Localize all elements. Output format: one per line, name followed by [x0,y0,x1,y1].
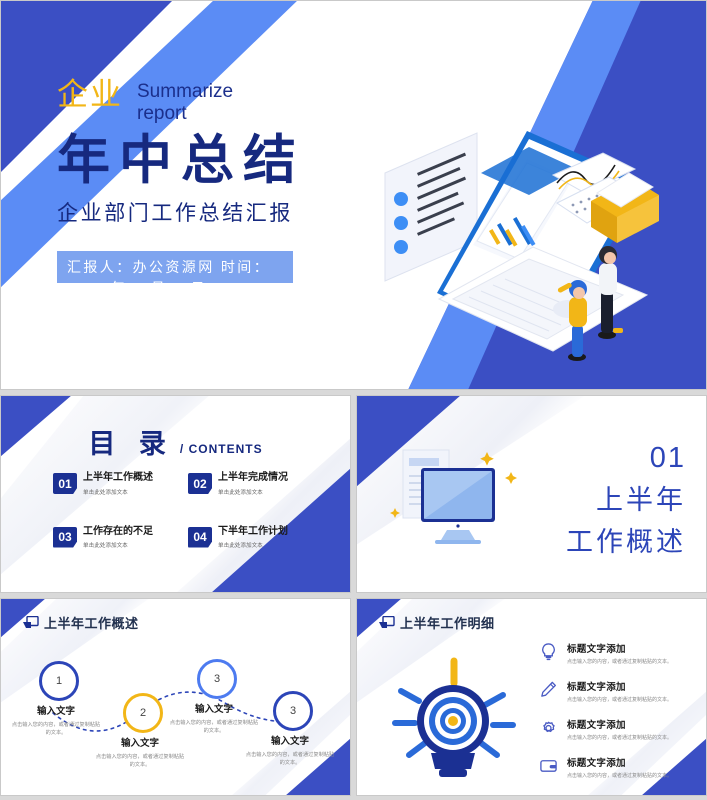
monitor-illustration [383,444,523,564]
brand-en: Summarize report [137,81,245,126]
wallet-icon [539,756,558,775]
detail-item[interactable]: 标题文字添加 点击输入您的内容，或者通过复制粘贴的文本。 [539,755,699,779]
timeline-node[interactable]: 3 [197,659,237,699]
laptop-illustration [377,113,667,383]
timeline-node-number: 2 [140,707,146,719]
slide-section-01[interactable]: 01 上半年 工作概述 [356,395,707,593]
page-header-title: 上半年工作概述 [44,613,139,632]
timeline-label-title: 输入文字 [94,735,186,749]
timeline-label-title: 输入文字 [168,701,260,715]
contents-heading-en: / CONTENTS [180,442,263,456]
detail-item-title: 标题文字添加 [567,755,672,769]
timeline-label-desc: 点击输入您的内容，或者通过复制粘贴的文本。 [10,721,102,737]
timeline-node[interactable]: 1 [39,661,79,701]
contents-item-number: 03 [53,527,77,548]
detail-item-title: 标题文字添加 [567,641,672,655]
timeline-label-desc: 点击输入您的内容，或者通过复制粘贴的文本。 [94,753,186,769]
timeline-label: 输入文字 点击输入您的内容，或者通过复制粘贴的文本。 [94,735,186,769]
page-header-title: 上半年工作明细 [400,613,495,632]
contents-item[interactable]: 03 工作存在的不足 单击此处添加文本 [53,526,174,550]
detail-item-desc: 点击输入您的内容，或者通过复制粘贴的文本。 [567,772,672,779]
timeline-label: 输入文字 点击输入您的内容，或者通过复制粘贴的文本。 [168,701,260,735]
slide-deck: 企业 Summarize report 年中总结 企业部门工作总结汇报 汇报人：… [0,0,707,800]
lightbulb-target-illustration [379,645,529,790]
timeline: 1 输入文字 点击输入您的内容，或者通过复制粘贴的文本。 2 输入文字 点击输入… [1,641,350,791]
timeline-label: 输入文字 点击输入您的内容，或者通过复制粘贴的文本。 [244,733,336,767]
detail-item-desc: 点击输入您的内容，或者通过复制粘贴的文本。 [567,696,672,703]
detail-item-title: 标题文字添加 [567,679,672,693]
timeline-label-title: 输入文字 [244,733,336,747]
contents-item-title: 上半年完成情况 [218,472,288,485]
slide-overview[interactable]: 上半年工作概述 1 输入文字 点击输入您的内容，或者通过复制粘贴的文本。 2 输… [0,598,351,796]
contents-item-sub: 单击此处添加文本 [218,488,288,496]
section-number: 01 [566,444,686,473]
timeline-node-number: 3 [214,673,220,685]
contents-item-number: 04 [188,527,212,548]
bulb-icon [539,642,558,661]
timeline-label-desc: 点击输入您的内容，或者通过复制粘贴的文本。 [244,751,336,767]
title-text-block: 企业 Summarize report 年中总结 企业部门工作总结汇报 汇报人：… [57,79,305,283]
contents-item-number: 02 [188,473,212,494]
detail-item[interactable]: 标题文字添加 点击输入您的内容，或者通过复制粘贴的文本。 [539,679,699,703]
contents-item-title: 下半年工作计划 [218,526,288,539]
page-subtitle: 企业部门工作总结汇报 [57,197,305,227]
timeline-node-number: 3 [290,705,296,717]
pencil-icon [539,680,558,699]
page-title: 年中总结 [57,132,305,189]
section-title-line1: 上半年 [566,478,686,517]
slide-title[interactable]: 企业 Summarize report 年中总结 企业部门工作总结汇报 汇报人：… [0,0,707,390]
screen-icon [379,616,395,630]
detail-item-desc: 点击输入您的内容，或者通过复制粘贴的文本。 [567,734,672,741]
detail-item-title: 标题文字添加 [567,717,672,731]
timeline-node-number: 1 [56,675,62,687]
brand-row: 企业 Summarize report [57,79,305,126]
detail-item[interactable]: 标题文字添加 点击输入您的内容，或者通过复制粘贴的文本。 [539,717,699,741]
page-header: 上半年工作概述 [23,613,139,632]
timeline-node[interactable]: 3 [273,691,313,731]
contents-item[interactable]: 04 下半年工作计划 单击此处添加文本 [188,526,309,550]
slide-contents[interactable]: 目 录 / CONTENTS 01 上半年工作概述 单击此处添加文本 02 上半… [0,395,351,593]
contents-item[interactable]: 02 上半年完成情况 单击此处添加文本 [188,472,309,496]
contents-heading-cn: 目 录 [88,422,174,461]
detail-list: 标题文字添加 点击输入您的内容，或者通过复制粘贴的文本。 标题文字添加 点击输入… [539,641,699,793]
detail-item-desc: 点击输入您的内容，或者通过复制粘贴的文本。 [567,658,672,665]
timeline-node[interactable]: 2 [123,693,163,733]
timeline-label-title: 输入文字 [10,703,102,717]
detail-item[interactable]: 标题文字添加 点击输入您的内容，或者通过复制粘贴的文本。 [539,641,699,665]
contents-item-sub: 单击此处添加文本 [83,541,153,549]
page-header: 上半年工作明细 [379,613,495,632]
reporter-info-bar: 汇报人：办公资源网 时间：20XX年XX月XX日 [57,251,293,283]
brand-cn: 企业 [57,79,123,112]
section-title-block: 01 上半年 工作概述 [566,444,686,559]
gear-icon [539,718,558,737]
slide-detail[interactable]: 上半年工作明细 [356,598,707,796]
contents-item-sub: 单击此处添加文本 [218,541,288,549]
contents-item-number: 01 [53,473,77,494]
section-title-line2: 工作概述 [566,520,686,559]
contents-item-title: 工作存在的不足 [83,526,153,539]
screen-icon [23,616,39,630]
contents-item-sub: 单击此处添加文本 [83,488,153,496]
contents-item[interactable]: 01 上半年工作概述 单击此处添加文本 [53,472,174,496]
timeline-label: 输入文字 点击输入您的内容，或者通过复制粘贴的文本。 [10,703,102,737]
contents-item-title: 上半年工作概述 [83,472,153,485]
contents-list: 01 上半年工作概述 单击此处添加文本 02 上半年完成情况 单击此处添加文本 … [53,472,309,549]
contents-heading: 目 录 / CONTENTS [1,422,350,461]
